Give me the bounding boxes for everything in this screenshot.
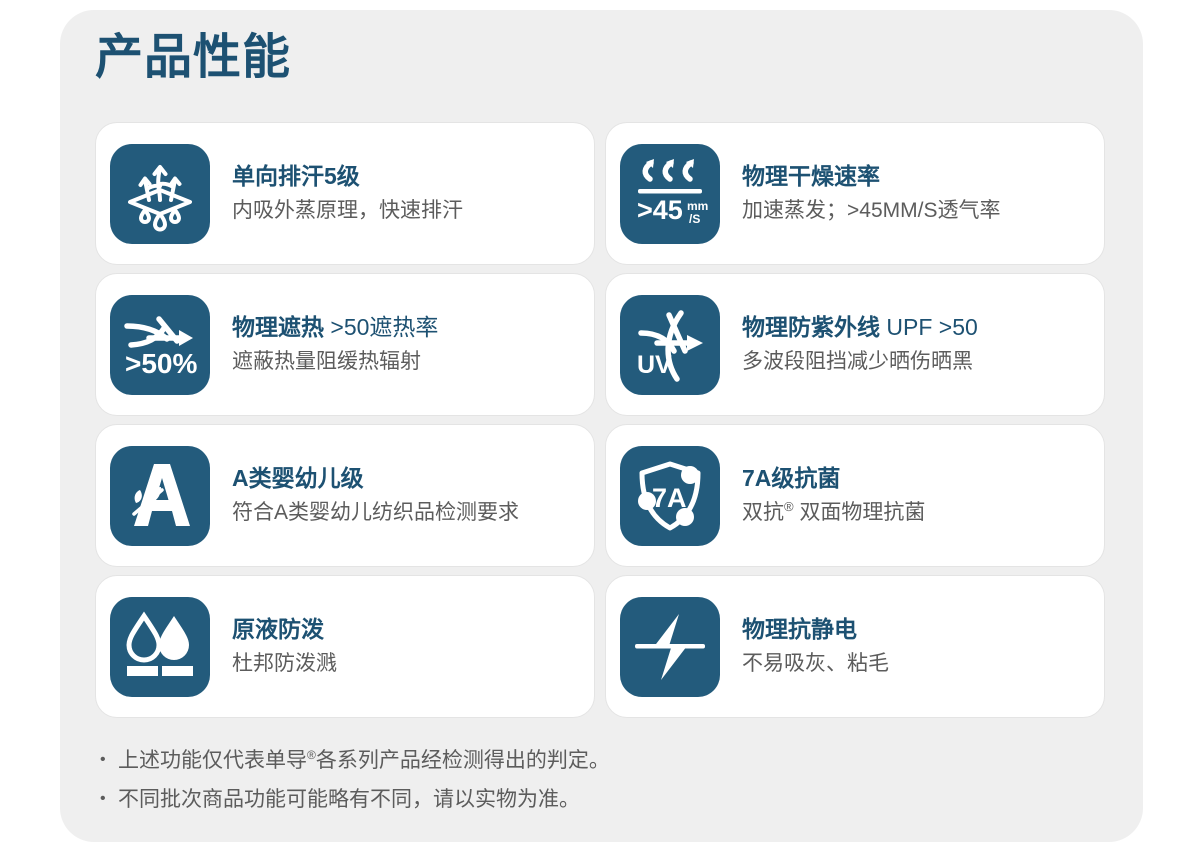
card-title-suffix: UPF >50 [886, 314, 977, 340]
card-title-main: 物理干燥速率 [742, 163, 880, 189]
feature-card-water-repellent[interactable]: 原液防泼 杜邦防泼溅 [95, 575, 595, 718]
water-repellent-droplets-icon [110, 597, 210, 697]
card-title-main: 物理防紫外线 [742, 314, 880, 340]
card-title: A类婴幼儿级 [232, 463, 519, 494]
drying-rate-icon: >45 mm /S [620, 144, 720, 244]
anti-static-bolt-icon [620, 597, 720, 697]
footnote-text: 上述功能仅代表单导®各系列产品经检测得出的判定。 [118, 745, 610, 778]
feature-card-anti-static[interactable]: 物理抗静电 不易吸灰、粘毛 [605, 575, 1105, 718]
card-title-main: A类婴幼儿级 [232, 465, 364, 491]
footnote-item: • 上述功能仅代表单导®各系列产品经检测得出的判定。 [100, 745, 1060, 778]
footnote-prefix: 上述功能仅代表单导 [118, 749, 307, 772]
bullet-icon: • [100, 745, 118, 775]
antibacterial-shield-icon: 7A [620, 446, 720, 546]
feature-card-antibacterial[interactable]: 7A 7A级抗菌 双抗® 双面物理抗菌 [605, 424, 1105, 567]
feature-grid: 单向排汗5级 内吸外蒸原理，快速排汗 [95, 122, 1105, 718]
registered-mark: ® [784, 499, 794, 514]
card-desc-suffix: 双面物理抗菌 [799, 501, 925, 524]
footnote-prefix: 不同批次商品功能可能略有不同，请以实物为准。 [118, 788, 580, 811]
footnote-text: 不同批次商品功能可能略有不同，请以实物为准。 [118, 784, 580, 817]
bullet-icon: • [100, 784, 118, 814]
svg-text:7A: 7A [652, 483, 687, 513]
card-text: 7A级抗菌 双抗® 双面物理抗菌 [720, 463, 937, 528]
card-title: 物理抗静电 [742, 614, 889, 645]
footnote-suffix: 各系列产品经检测得出的判定。 [316, 749, 610, 772]
svg-text:mm: mm [687, 199, 708, 213]
svg-text:>50%: >50% [125, 348, 197, 379]
page-title: 产品性能 [95, 32, 291, 85]
footnote-item: • 不同批次商品功能可能略有不同，请以实物为准。 [100, 784, 1060, 817]
card-desc-prefix: 双抗 [742, 501, 784, 524]
card-desc: 多波段阻挡减少晒伤晒黑 [742, 347, 978, 377]
moisture-wicking-mesh-icon [110, 144, 210, 244]
card-title: 原液防泼 [232, 614, 337, 645]
card-desc: 不易吸灰、粘毛 [742, 649, 889, 679]
class-a-leaf-icon [110, 446, 210, 546]
card-desc: 加速蒸发；>45MM/S透气率 [742, 196, 1000, 226]
card-title-main: 物理抗静电 [742, 616, 857, 642]
feature-card-heat-shield[interactable]: >50% 物理遮热 >50遮热率 遮蔽热量阻缓热辐射 [95, 273, 595, 416]
card-text: 物理遮热 >50遮热率 遮蔽热量阻缓热辐射 [210, 312, 450, 377]
card-text: 物理防紫外线 UPF >50 多波段阻挡减少晒伤晒黑 [720, 312, 990, 377]
uv-protection-icon: UV [620, 295, 720, 395]
card-text: A类婴幼儿级 符合A类婴幼儿纺织品检测要求 [210, 463, 531, 528]
card-title-suffix: >50遮热率 [330, 314, 438, 340]
svg-text:/S: /S [689, 212, 700, 226]
card-title-main: 单向排汗5级 [232, 163, 360, 189]
card-title: 7A级抗菌 [742, 463, 925, 494]
card-title: 物理干燥速率 [742, 161, 1000, 192]
card-title-main: 物理遮热 [232, 314, 324, 340]
svg-text:>45: >45 [637, 195, 683, 225]
card-text: 原液防泼 杜邦防泼溅 [210, 614, 349, 679]
card-text: 物理抗静电 不易吸灰、粘毛 [720, 614, 901, 679]
card-title: 单向排汗5级 [232, 161, 463, 192]
card-title-main: 7A级抗菌 [742, 465, 840, 491]
card-title: 物理防紫外线 UPF >50 [742, 312, 978, 343]
product-performance-panel: 产品性能 [60, 10, 1143, 842]
card-text: 单向排汗5级 内吸外蒸原理，快速排汗 [210, 161, 475, 226]
feature-card-moisture-wicking[interactable]: 单向排汗5级 内吸外蒸原理，快速排汗 [95, 122, 595, 265]
card-text: 物理干燥速率 加速蒸发；>45MM/S透气率 [720, 161, 1012, 226]
card-desc: 内吸外蒸原理，快速排汗 [232, 196, 463, 226]
card-title: 物理遮热 >50遮热率 [232, 312, 438, 343]
svg-text:UV: UV [637, 351, 672, 379]
feature-card-class-a-baby[interactable]: A类婴幼儿级 符合A类婴幼儿纺织品检测要求 [95, 424, 595, 567]
feature-card-uv-protection[interactable]: UV 物理防紫外线 UPF >50 多波段阻挡减少晒伤晒黑 [605, 273, 1105, 416]
card-title-main: 原液防泼 [232, 616, 324, 642]
registered-mark: ® [307, 748, 316, 762]
card-desc: 杜邦防泼溅 [232, 649, 337, 679]
card-desc: 遮蔽热量阻缓热辐射 [232, 347, 438, 377]
heat-shield-icon: >50% [110, 295, 210, 395]
card-desc: 符合A类婴幼儿纺织品检测要求 [232, 498, 519, 528]
card-desc: 双抗® 双面物理抗菌 [742, 498, 925, 528]
footnotes: • 上述功能仅代表单导®各系列产品经检测得出的判定。 • 不同批次商品功能可能略… [100, 745, 1060, 822]
feature-card-drying-rate[interactable]: >45 mm /S 物理干燥速率 加速蒸发；>45MM/S透气率 [605, 122, 1105, 265]
